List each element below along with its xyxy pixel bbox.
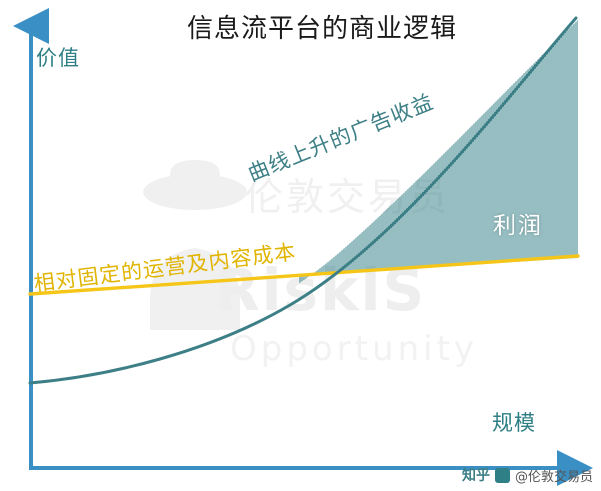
x-axis-label: 规模	[492, 407, 536, 437]
profit-region	[300, 0, 578, 491]
axis-lines	[31, 26, 575, 470]
chart-canvas: 伦敦交易员 RisklS Opportunity	[0, 0, 601, 491]
chart-title: 信息流平台的商业逻辑	[112, 8, 532, 45]
credit-bar: 知乎 @伦敦交易员	[462, 465, 593, 485]
zhihu-logo: 知乎	[462, 465, 490, 485]
author-handle: @伦敦交易员	[515, 466, 593, 485]
user-avatar-icon	[495, 468, 510, 483]
profit-region-label: 利润	[493, 206, 543, 240]
y-axis-label: 价值	[36, 42, 80, 72]
